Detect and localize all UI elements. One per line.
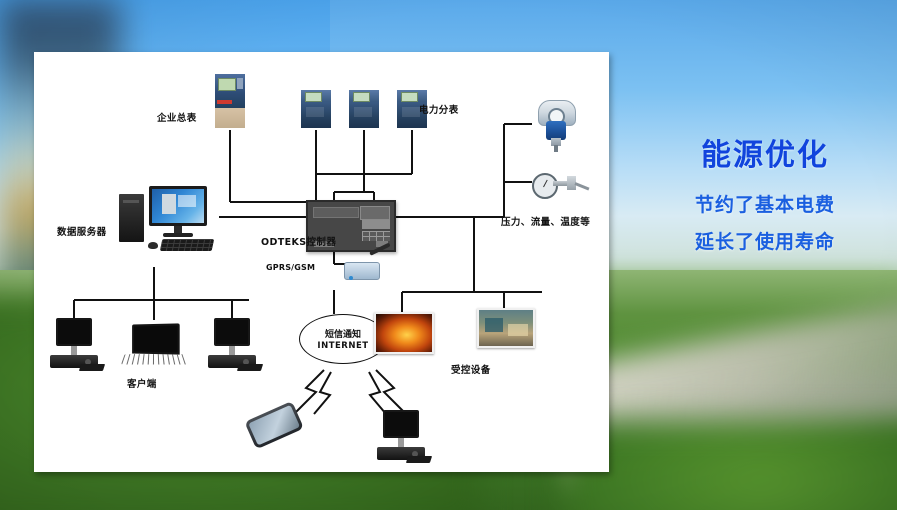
controller-panel-mid bbox=[362, 220, 390, 229]
label-client: 客户端 bbox=[127, 376, 157, 390]
monitor-screen bbox=[216, 320, 248, 344]
monitor-neck bbox=[71, 346, 77, 355]
monitor-screen bbox=[385, 412, 417, 436]
side-benefit-1: 节约了基本电费 bbox=[640, 190, 890, 217]
meter-face bbox=[397, 90, 427, 102]
client-laptop[interactable] bbox=[123, 324, 185, 370]
monitor-neck bbox=[398, 438, 404, 447]
meter-face bbox=[301, 90, 331, 102]
meter-buttons bbox=[237, 78, 243, 89]
side-title: 能源优化 bbox=[640, 130, 890, 174]
side-benefit-2: 延长了使用寿命 bbox=[640, 227, 890, 254]
meter-face bbox=[215, 74, 245, 108]
meter-display bbox=[401, 92, 418, 102]
pc-tower bbox=[119, 194, 144, 242]
remote-desktop[interactable] bbox=[377, 410, 429, 466]
label-enterprise-meter: 企业总表 bbox=[157, 110, 197, 124]
laptop-display bbox=[134, 326, 178, 353]
meter-face bbox=[349, 90, 379, 102]
monitor-neck bbox=[229, 346, 235, 355]
power-submeter-1[interactable] bbox=[301, 90, 331, 128]
meter-display bbox=[305, 92, 322, 102]
keyboard bbox=[79, 364, 105, 371]
electric-meter-graphic bbox=[301, 90, 331, 128]
label-power-submeter: 电力分表 bbox=[419, 102, 459, 116]
desktop-pc-graphic bbox=[119, 182, 219, 252]
desktop-graphic bbox=[208, 318, 260, 374]
enterprise-meter[interactable] bbox=[215, 74, 245, 128]
meter-base bbox=[349, 102, 379, 128]
pc-mouse bbox=[148, 242, 158, 249]
pc-keyboard bbox=[160, 239, 215, 251]
phone-screen bbox=[248, 405, 300, 446]
monitor bbox=[383, 410, 419, 438]
meter-base bbox=[215, 108, 245, 128]
laptop-screen bbox=[132, 323, 180, 354]
data-server[interactable] bbox=[119, 182, 219, 252]
side-text-block: 能源优化 节约了基本电费 延长了使用寿命 bbox=[640, 130, 890, 254]
keyboard bbox=[237, 364, 263, 371]
temperature-gauge[interactable] bbox=[532, 170, 590, 200]
client-desktop-left[interactable] bbox=[50, 318, 102, 374]
label-gprs-gsm: GPRS/GSM bbox=[266, 263, 315, 272]
client-desktop-right[interactable] bbox=[208, 318, 260, 374]
meter-red-strip bbox=[217, 100, 232, 104]
furnace-photo[interactable] bbox=[374, 312, 434, 354]
monitor bbox=[214, 318, 250, 346]
desktop-graphic bbox=[50, 318, 102, 374]
diagram-canvas: 企业总表 电力分表 bbox=[34, 52, 609, 472]
electric-meter-graphic bbox=[215, 74, 245, 128]
controller-keypad bbox=[362, 231, 390, 241]
monitor-screen bbox=[58, 320, 90, 344]
meter-display bbox=[218, 78, 236, 91]
cloud-line-2: INTERNET bbox=[317, 341, 368, 351]
machinery-photo[interactable] bbox=[477, 308, 535, 348]
pressure-transmitter[interactable] bbox=[532, 100, 580, 152]
modem-led bbox=[349, 276, 353, 280]
pc-monitor-base bbox=[163, 233, 193, 237]
keyboard bbox=[406, 456, 432, 463]
modem-body bbox=[344, 262, 380, 280]
gauge-graphic bbox=[532, 170, 590, 200]
mobile-phone[interactable] bbox=[249, 410, 301, 444]
label-data-server: 数据服务器 bbox=[57, 224, 107, 238]
electric-meter-graphic bbox=[349, 90, 379, 128]
label-controlled-equipment: 受控设备 bbox=[451, 362, 491, 376]
power-submeter-2[interactable] bbox=[349, 90, 379, 128]
gauge-face bbox=[532, 173, 558, 199]
transmitter-tip bbox=[554, 145, 558, 152]
laptop-graphic bbox=[123, 324, 185, 370]
pc-monitor bbox=[149, 186, 207, 226]
desktop-graphic bbox=[377, 410, 429, 466]
cloud-line-1: 短信通知 bbox=[325, 327, 361, 340]
meter-base bbox=[301, 102, 331, 128]
controller-screen bbox=[313, 207, 359, 218]
pc-screen bbox=[152, 189, 204, 223]
monitor bbox=[56, 318, 92, 346]
meter-display bbox=[353, 92, 370, 102]
label-sensors: 压力、流量、温度等 bbox=[501, 214, 590, 228]
pressure-transmitter-graphic bbox=[532, 100, 580, 152]
diagram-panel: 企业总表 电力分表 bbox=[34, 52, 609, 472]
laptop-keyboard bbox=[121, 354, 187, 364]
modem-graphic bbox=[344, 254, 390, 280]
gauge-probe bbox=[574, 182, 589, 190]
label-controller: ODTEKS控制器 bbox=[261, 234, 336, 248]
controller-panel-top bbox=[360, 206, 390, 220]
gprs-modem[interactable] bbox=[344, 254, 390, 280]
